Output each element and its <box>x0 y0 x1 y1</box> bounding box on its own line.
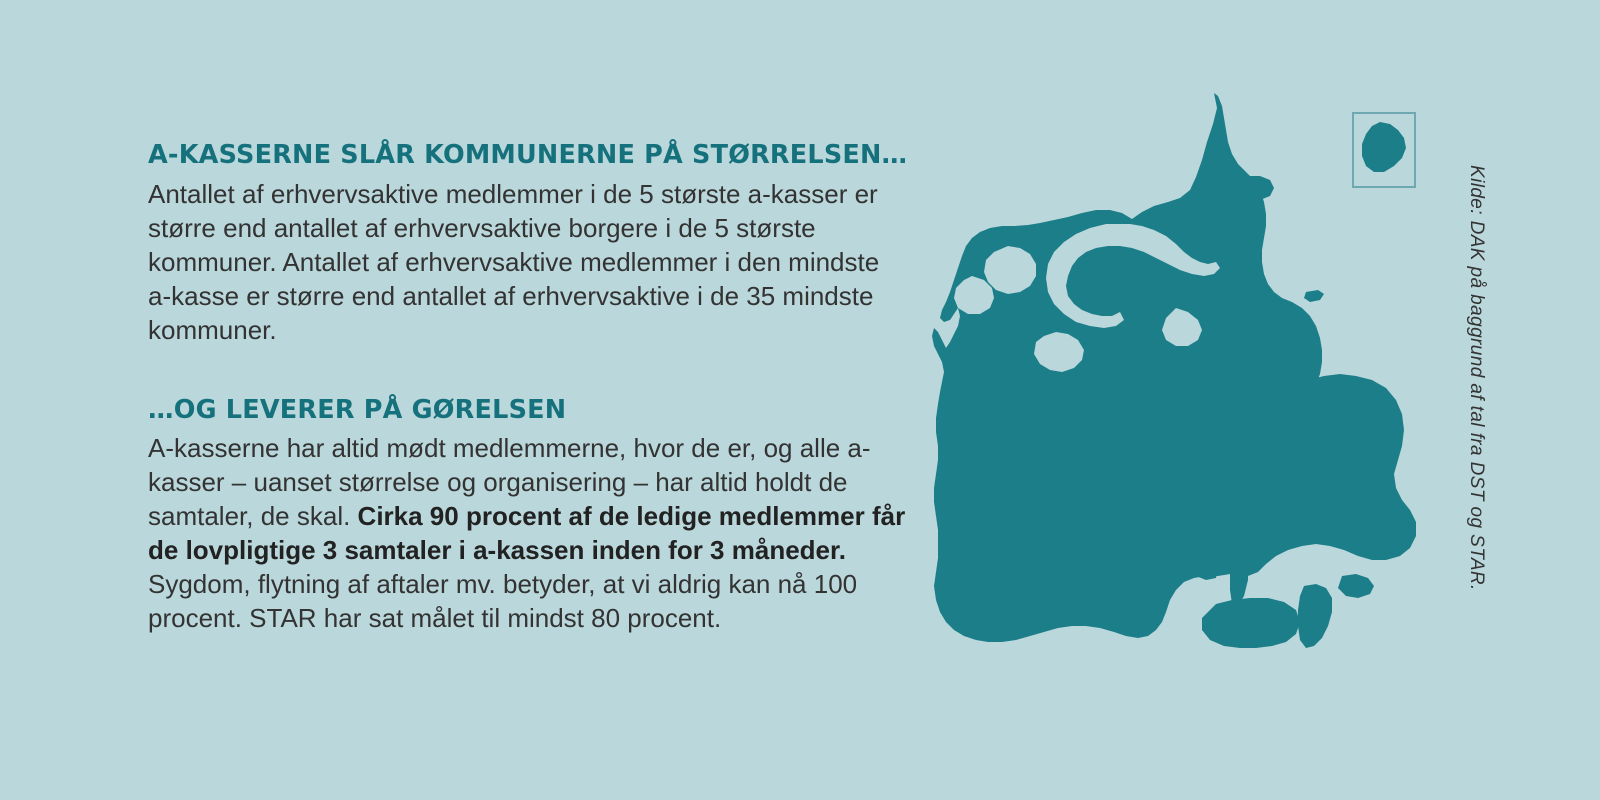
section-heading-delivery: …OG LEVERER PÅ GØRELSEN <box>148 395 908 426</box>
denmark-map <box>880 80 1480 720</box>
section-delivery: …OG LEVERER PÅ GØRELSEN A-kasserne har a… <box>148 395 908 636</box>
section-heading-size: A-KASSERNE SLÅR KOMMUNERNE PÅ STØRRELSEN… <box>148 140 908 171</box>
section-size: A-KASSERNE SLÅR KOMMUNERNE PÅ STØRRELSEN… <box>148 140 908 347</box>
island-anholt <box>1304 290 1324 302</box>
region-lolland <box>1202 598 1300 648</box>
section-body-delivery: A-kasserne har altid mødt medlemmerne, h… <box>148 431 908 635</box>
text-column: A-KASSERNE SLÅR KOMMUNERNE PÅ STØRRELSEN… <box>148 140 908 635</box>
region-mon <box>1338 574 1374 598</box>
infographic-poster: A-KASSERNE SLÅR KOMMUNERNE PÅ STØRRELSEN… <box>0 0 1600 800</box>
island-bornholm <box>1362 122 1406 172</box>
region-falster <box>1298 584 1332 648</box>
body-text-tail: Sygdom, flytning af aftaler mv. betyder,… <box>148 569 857 633</box>
denmark-map-svg <box>880 80 1480 720</box>
section-body-size: Antallet af erhvervsaktive medlemmer i d… <box>148 177 908 347</box>
